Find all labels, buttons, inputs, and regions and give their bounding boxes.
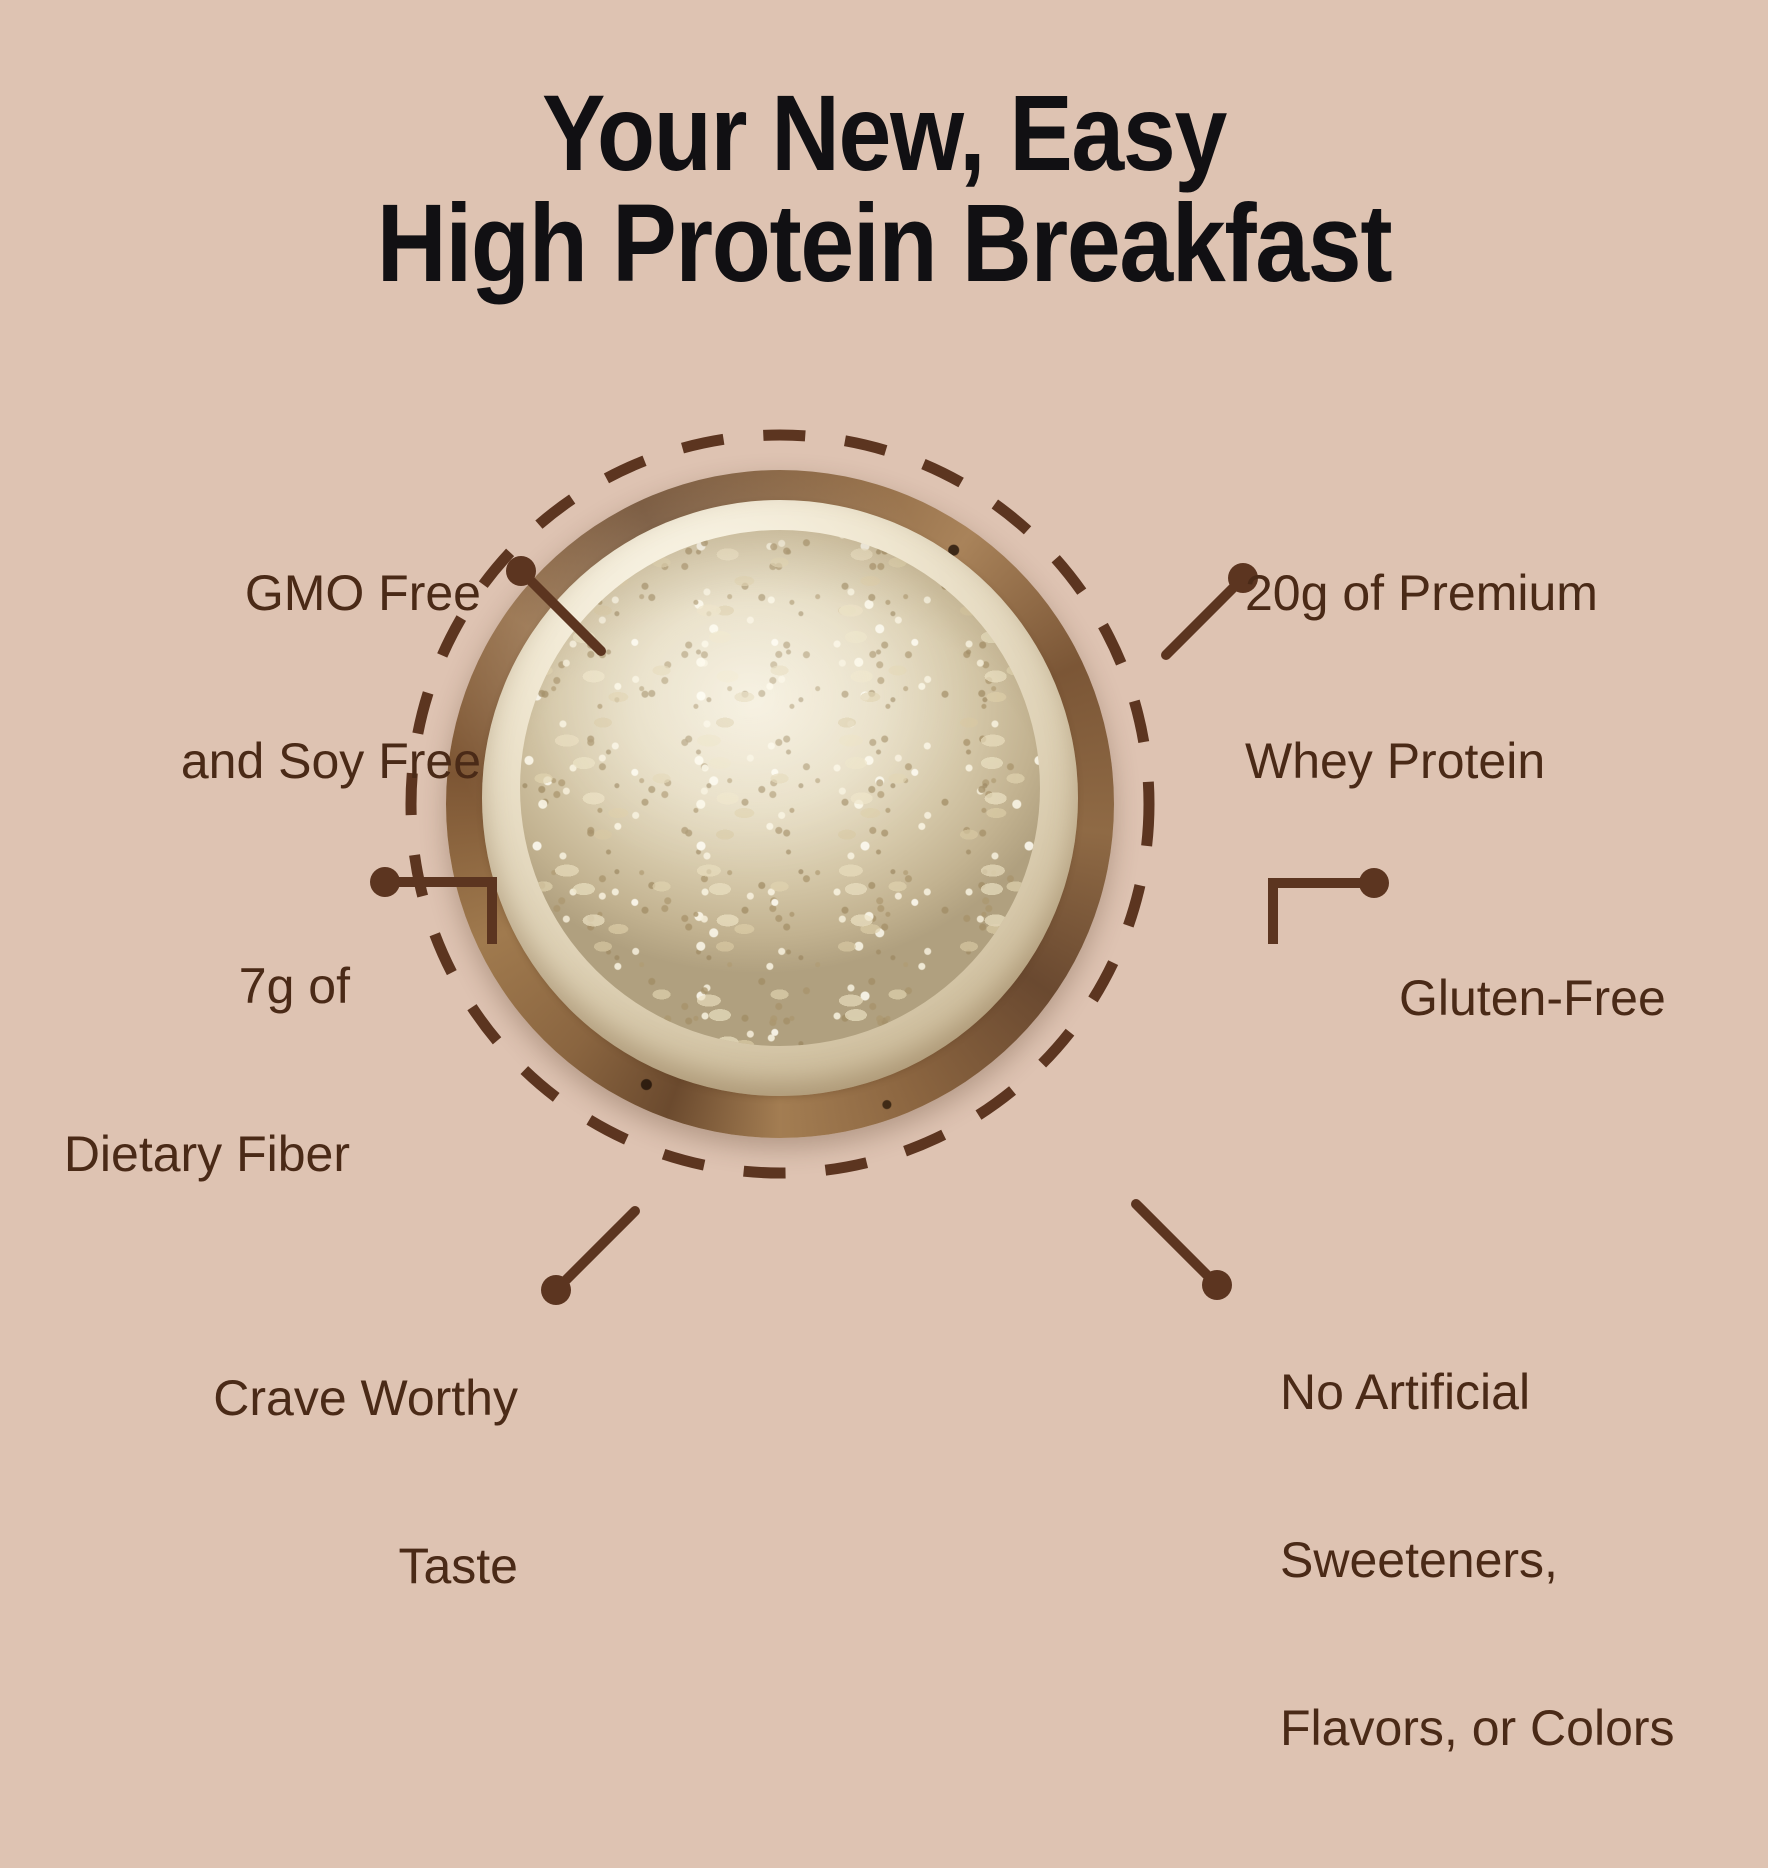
feature-label-crave-worthy-taste: Crave Worthy Taste [213,1258,518,1706]
feature-label-dietary-fiber: 7g of Dietary Fiber [64,846,350,1294]
feature-line: Dietary Fiber [64,1126,350,1182]
title-line-2: High Protein Breakfast [106,188,1662,300]
connector-dot-no-artificial [1202,1270,1232,1300]
feature-line: Taste [213,1538,518,1594]
feature-line: GMO Free [181,565,481,621]
feature-label-whey-protein: 20g of Premium Whey Protein [1245,453,1598,901]
feature-line: Gluten-Free [1399,970,1666,1026]
feature-line: No Artificial [1280,1364,1675,1420]
powder-shading [520,530,1040,1046]
page-title: Your New, Easy High Protein Breakfast [106,78,1662,300]
feature-label-no-artificial: No Artificial Sweeteners, Flavors, or Co… [1280,1252,1675,1868]
feature-line: Whey Protein [1245,733,1598,789]
infographic-canvas: Your New, Easy High Protein Breakfast [0,0,1768,1500]
feature-line: Flavors, or Colors [1280,1700,1675,1756]
connector-crave-worthy [541,1211,635,1305]
feature-label-gluten-free: Gluten-Free [1399,858,1666,1138]
feature-line: Sweeteners, [1280,1532,1675,1588]
feature-line: and Soy Free [181,733,481,789]
title-line-1: Your New, Easy [542,72,1226,193]
feature-line: Crave Worthy [213,1370,518,1426]
connector-no-artificial [1136,1204,1232,1300]
feature-line: 7g of [64,958,350,1014]
connector-dot-crave-worthy [541,1275,571,1305]
feature-label-gmo-free: GMO Free and Soy Free [181,453,481,901]
feature-line: 20g of Premium [1245,565,1598,621]
product-image [446,470,1114,1138]
protein-powder-mound [520,530,1040,1046]
